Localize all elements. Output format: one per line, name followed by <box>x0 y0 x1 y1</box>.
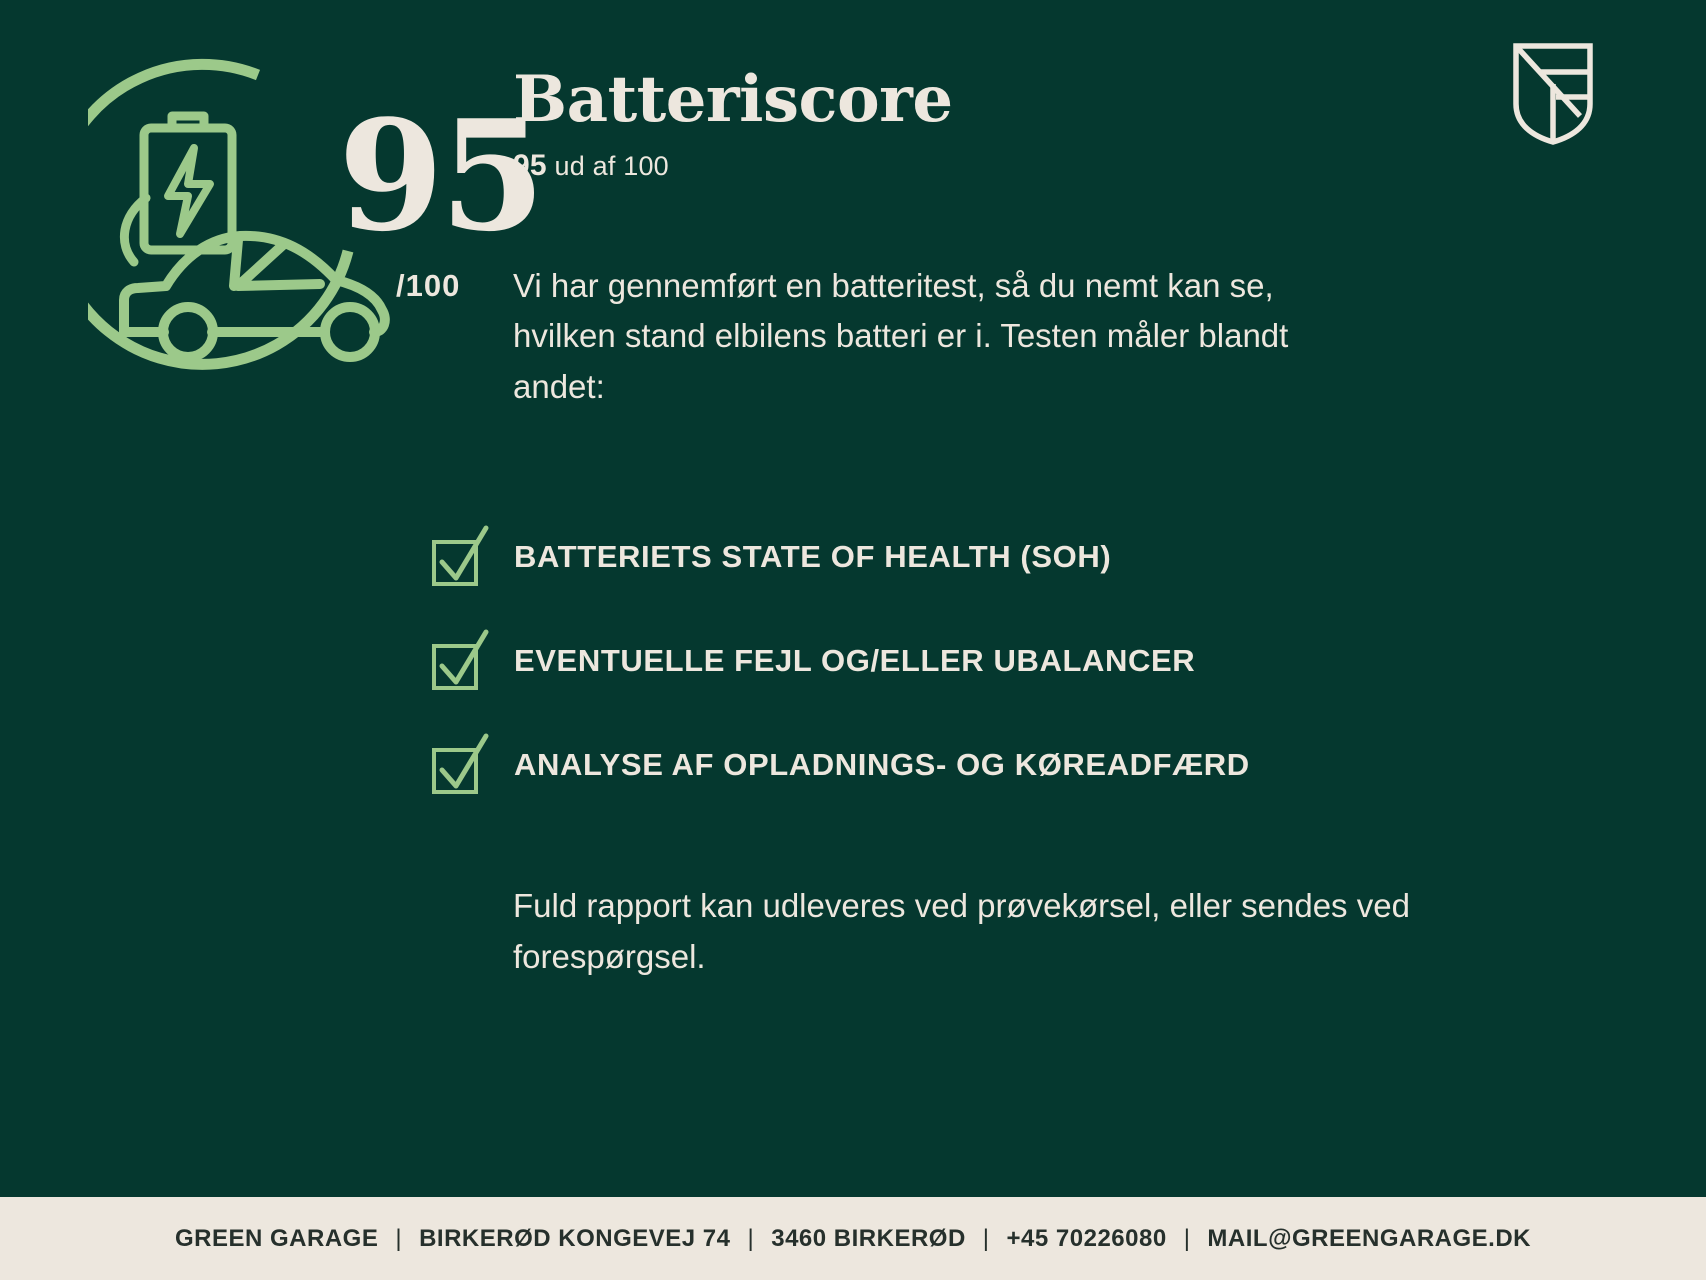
page-title: Batteriscore <box>513 66 1513 133</box>
checkbox-checked-icon <box>430 734 492 796</box>
footer-separator: | <box>1167 1225 1208 1253</box>
battery-score-badge: 95 /100 <box>88 48 418 388</box>
score-denominator: /100 <box>396 268 460 304</box>
footer-separator: | <box>378 1225 419 1253</box>
shield-leaf-icon <box>1512 42 1594 146</box>
closing-paragraph: Fuld rapport kan udleveres ved prøvekørs… <box>513 880 1413 982</box>
footer-separator: | <box>966 1225 1007 1253</box>
battery-score-card: 95 /100 Batteriscore 95 ud af 100 Vi har… <box>0 0 1706 1280</box>
battery-bolt-icon <box>144 116 232 250</box>
score-subtitle: 95 ud af 100 <box>513 149 1513 183</box>
list-item: BATTERIETS STATE OF HEALTH (SOH) <box>430 505 1530 609</box>
footer-separator: | <box>730 1225 771 1253</box>
footer-phone[interactable]: +45 70226080 <box>1007 1225 1167 1253</box>
footer-company: GREEN GARAGE <box>175 1225 378 1253</box>
contact-footer: GREEN GARAGE | BIRKERØD KONGEVEJ 74 | 34… <box>0 1197 1706 1280</box>
checklist-label: EVENTUELLE FEJL OG/ELLER UBALANCER <box>514 643 1195 679</box>
checklist-label: BATTERIETS STATE OF HEALTH (SOH) <box>514 539 1111 575</box>
footer-email[interactable]: MAIL@GREENGARAGE.DK <box>1207 1225 1531 1253</box>
score-value: 95 <box>338 100 542 252</box>
list-item: ANALYSE AF OPLADNINGS- OG KØREADFÆRD <box>430 713 1530 817</box>
header-block: Batteriscore 95 ud af 100 Vi har gennemf… <box>513 66 1513 412</box>
footer-city: 3460 BIRKERØD <box>771 1225 966 1253</box>
checkbox-checked-icon <box>430 526 492 588</box>
list-item: EVENTUELLE FEJL OG/ELLER UBALANCER <box>430 609 1530 713</box>
intro-paragraph: Vi har gennemført en batteritest, så du … <box>513 261 1353 411</box>
checklist-label: ANALYSE AF OPLADNINGS- OG KØREADFÆRD <box>514 747 1250 783</box>
footer-street: BIRKERØD KONGEVEJ 74 <box>419 1225 730 1253</box>
checkbox-checked-icon <box>430 630 492 692</box>
subtitle-score: 95 <box>513 149 547 182</box>
feature-checklist: BATTERIETS STATE OF HEALTH (SOH) EVENTUE… <box>430 505 1530 817</box>
subtitle-rest: ud af 100 <box>554 151 668 181</box>
